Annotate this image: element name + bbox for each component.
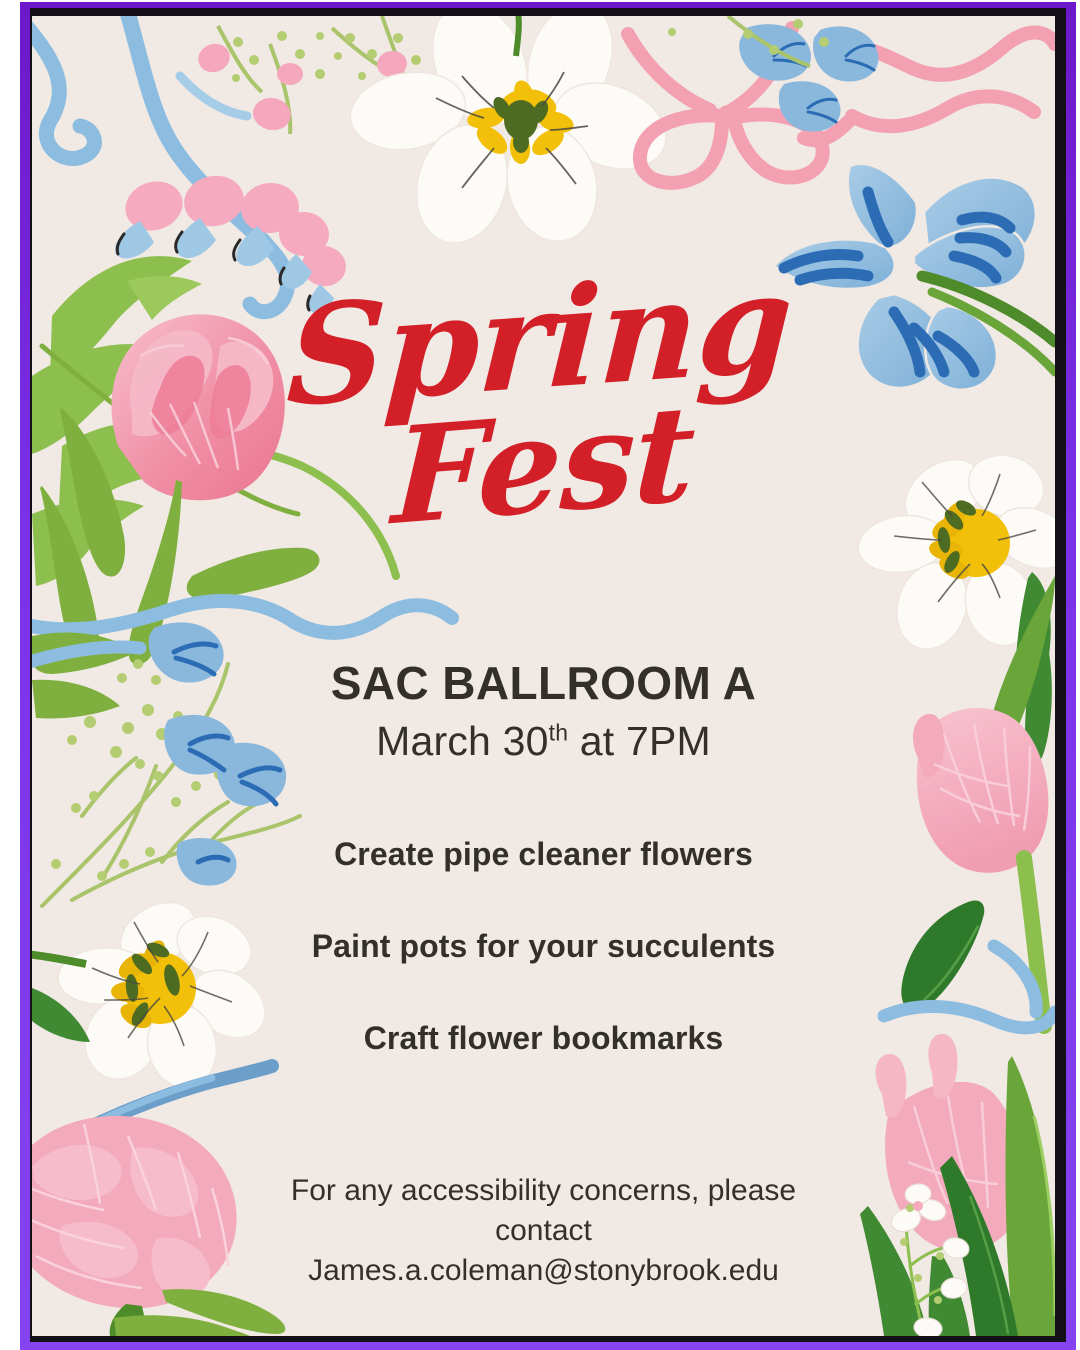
activity-item-2: Paint pots for your succulents: [32, 928, 1055, 965]
time-suffix: at 7PM: [568, 718, 711, 764]
venue-text: SAC BALLROOM A: [32, 656, 1055, 710]
activity-item-1: Create pipe cleaner flowers: [32, 836, 1055, 873]
activities-list: Create pipe cleaner flowers Paint pots f…: [32, 836, 1055, 1112]
date-ordinal-suffix: th: [549, 719, 569, 745]
accessibility-line-1: For any accessibility concerns, please: [32, 1171, 1055, 1211]
poster-canvas: Spring Fest SAC BALLROOM A March 30th at…: [32, 16, 1055, 1336]
datetime-text: March 30th at 7PM: [32, 718, 1055, 765]
contact-email[interactable]: James.a.coleman@stonybrook.edu: [32, 1251, 1055, 1291]
poster-title: Spring Fest: [32, 278, 1055, 527]
accessibility-line-2: contact: [32, 1211, 1055, 1251]
accessibility-notice: For any accessibility concerns, please c…: [32, 1171, 1055, 1291]
date-prefix: March 30: [376, 718, 549, 764]
poster-root: Spring Fest SAC BALLROOM A March 30th at…: [0, 0, 1080, 1350]
activity-item-3: Craft flower bookmarks: [32, 1020, 1055, 1057]
